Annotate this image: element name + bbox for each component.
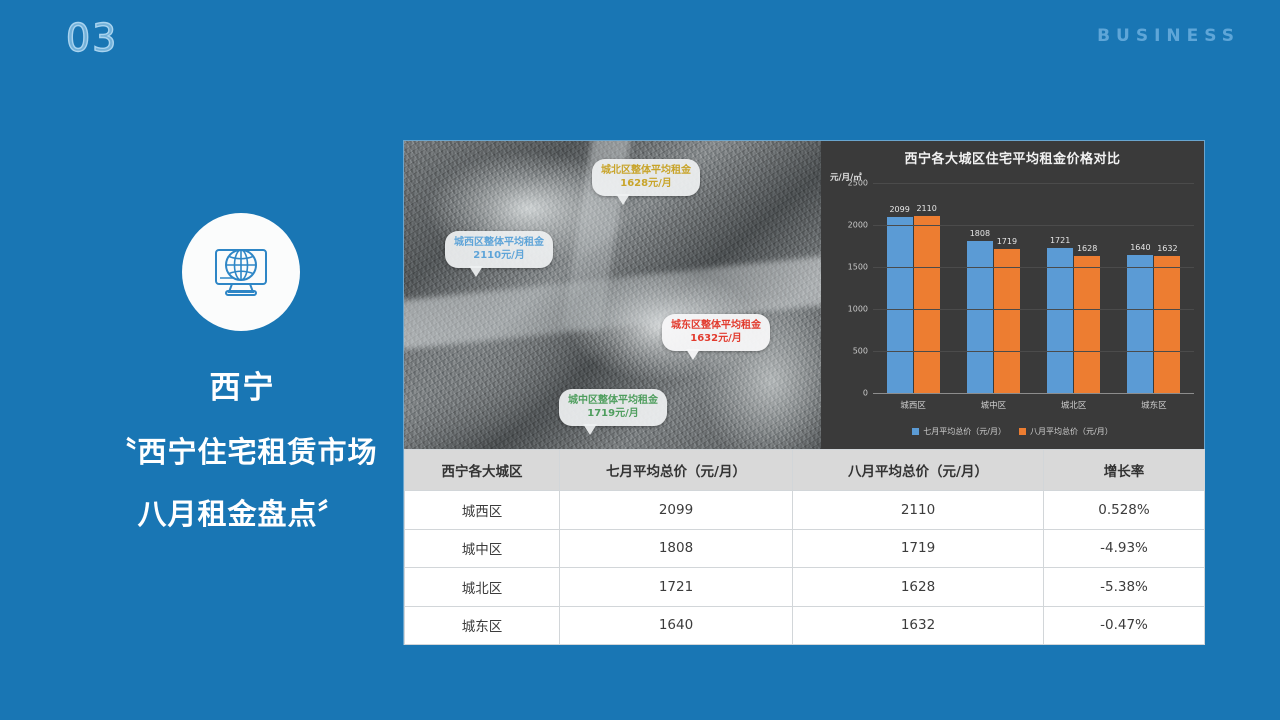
chart-gridline <box>873 351 1194 352</box>
table-cell-august: 1632 <box>793 606 1044 645</box>
rent-comparison-chart: 西宁各大城区住宅平均租金价格对比 元/月/㎡ 20992110180817191… <box>821 141 1204 449</box>
subject-line-1: 〝西宁住宅租赁市场 <box>30 434 455 470</box>
chart-x-tick-labels: 城西区城中区城北区城东区 <box>873 399 1194 411</box>
map-callout-west-value: 2110元/月 <box>454 249 544 262</box>
chart-bar-group: 20992110 <box>887 183 940 393</box>
chart-bar-value: 1632 <box>1157 244 1177 253</box>
map-callout-east: 城东区整体平均租金 1632元/月 <box>662 314 770 351</box>
chart-legend-item: 八月平均总价（元/月） <box>1019 426 1113 437</box>
table-header-growth: 增长率 <box>1044 450 1205 491</box>
chart-title: 西宁各大城区住宅平均租金价格对比 <box>821 141 1204 167</box>
table-cell-july: 2099 <box>560 491 793 530</box>
chart-legend-swatch <box>1019 428 1026 435</box>
chart-legend: 七月平均总价（元/月）八月平均总价（元/月） <box>821 426 1204 437</box>
chart-gridline <box>873 309 1194 310</box>
table-body: 城西区209921100.528%城中区18081719-4.93%城北区172… <box>405 491 1205 645</box>
chart-bar: 2110 <box>914 216 940 393</box>
map-callout-west-title: 城西区整体平均租金 <box>454 236 544 249</box>
page-number: 03 <box>66 16 118 60</box>
chart-y-tick: 1500 <box>848 263 868 272</box>
chart-bar-value: 2099 <box>889 205 909 214</box>
chart-y-tick: 1000 <box>848 305 868 314</box>
table-cell-august: 1628 <box>793 568 1044 607</box>
chart-legend-label: 八月平均总价（元/月） <box>1030 426 1113 437</box>
brand-label: BUSINESS <box>1097 26 1240 46</box>
chart-x-tick: 城北区 <box>1046 399 1101 411</box>
table-cell-july: 1640 <box>560 606 793 645</box>
map-callout-north-title: 城北区整体平均租金 <box>601 164 691 177</box>
chart-gridline <box>873 393 1194 394</box>
chart-legend-item: 七月平均总价（元/月） <box>912 426 1006 437</box>
chart-y-tick: 2000 <box>848 221 868 230</box>
chart-bar-value: 1719 <box>997 237 1017 246</box>
chart-bar-value: 1640 <box>1130 243 1150 252</box>
subject-line-2: 八月租金盘点〞 <box>30 496 455 532</box>
map-callout-central: 城中区整体平均租金 1719元/月 <box>559 389 667 426</box>
table-cell-district: 城北区 <box>405 568 560 607</box>
table-header-august: 八月平均总价（元/月） <box>793 450 1044 491</box>
table-cell-growth: -0.47% <box>1044 606 1205 645</box>
chart-bar: 1721 <box>1047 248 1073 393</box>
chart-x-tick: 城东区 <box>1126 399 1181 411</box>
map-callout-east-title: 城东区整体平均租金 <box>671 319 761 332</box>
table-header-july: 七月平均总价（元/月） <box>560 450 793 491</box>
chart-bar: 1640 <box>1127 255 1153 393</box>
table-cell-growth: -5.38% <box>1044 568 1205 607</box>
chart-gridline <box>873 267 1194 268</box>
chart-bar: 1719 <box>994 249 1020 393</box>
table-cell-district: 城西区 <box>405 491 560 530</box>
chart-bar-group: 16401632 <box>1127 183 1180 393</box>
chart-x-tick: 城中区 <box>966 399 1021 411</box>
chart-bar: 2099 <box>887 217 913 393</box>
chart-x-tick: 城西区 <box>886 399 941 411</box>
chart-plot-area: 20992110180817191721162816401632 0500100… <box>873 183 1194 393</box>
table-cell-july: 1808 <box>560 529 793 568</box>
table-row: 城东区16401632-0.47% <box>405 606 1205 645</box>
city-name: 西宁 <box>30 370 455 407</box>
chart-legend-label: 七月平均总价（元/月） <box>923 426 1006 437</box>
chart-bar-value: 1808 <box>970 229 990 238</box>
table-cell-growth: -4.93% <box>1044 529 1205 568</box>
chart-bar-group: 17211628 <box>1047 183 1100 393</box>
map-callout-north-value: 1628元/月 <box>601 177 691 190</box>
table-header-district: 西宁各大城区 <box>405 450 560 491</box>
chart-gridline <box>873 183 1194 184</box>
monitor-globe-icon <box>182 213 300 331</box>
chart-bar-value: 1721 <box>1050 236 1070 245</box>
chart-y-tick: 500 <box>853 347 868 356</box>
table-cell-august: 1719 <box>793 529 1044 568</box>
map-callout-west: 城西区整体平均租金 2110元/月 <box>445 231 553 268</box>
table-cell-august: 2110 <box>793 491 1044 530</box>
chart-bar: 1628 <box>1074 256 1100 393</box>
chart-bar-value: 2110 <box>916 204 936 213</box>
rent-data-table: 西宁各大城区 七月平均总价（元/月） 八月平均总价（元/月） 增长率 城西区20… <box>404 449 1205 645</box>
table-cell-district: 城中区 <box>405 529 560 568</box>
chart-bar: 1632 <box>1154 256 1180 393</box>
table-header-row: 西宁各大城区 七月平均总价（元/月） 八月平均总价（元/月） 增长率 <box>405 450 1205 491</box>
table-cell-district: 城东区 <box>405 606 560 645</box>
chart-bar-group: 18081719 <box>967 183 1020 393</box>
chart-y-tick: 2500 <box>848 179 868 188</box>
table-cell-growth: 0.528% <box>1044 491 1205 530</box>
chart-gridline <box>873 225 1194 226</box>
table-row: 城西区209921100.528% <box>405 491 1205 530</box>
chart-legend-swatch <box>912 428 919 435</box>
map-callout-central-value: 1719元/月 <box>568 407 658 420</box>
chart-y-tick: 0 <box>863 389 868 398</box>
slide-root: 03 BUSINESS 西宁 〝西宁住宅租赁市场 八月租金盘点〞 城北区整体平均… <box>0 0 1280 720</box>
map-callout-east-value: 1632元/月 <box>671 332 761 345</box>
map-callout-north: 城北区整体平均租金 1628元/月 <box>592 159 700 196</box>
content-card: 城北区整体平均租金 1628元/月 城西区整体平均租金 2110元/月 城东区整… <box>404 141 1204 644</box>
table-row: 城中区18081719-4.93% <box>405 529 1205 568</box>
left-title-block: 西宁 〝西宁住宅租赁市场 八月租金盘点〞 <box>30 370 455 559</box>
chart-bar: 1808 <box>967 241 993 393</box>
table-row: 城北区17211628-5.38% <box>405 568 1205 607</box>
chart-bars: 20992110180817191721162816401632 <box>873 183 1194 393</box>
chart-bar-value: 1628 <box>1077 244 1097 253</box>
map-callout-central-title: 城中区整体平均租金 <box>568 394 658 407</box>
satellite-map-image: 城北区整体平均租金 1628元/月 城西区整体平均租金 2110元/月 城东区整… <box>404 141 821 449</box>
table-cell-july: 1721 <box>560 568 793 607</box>
